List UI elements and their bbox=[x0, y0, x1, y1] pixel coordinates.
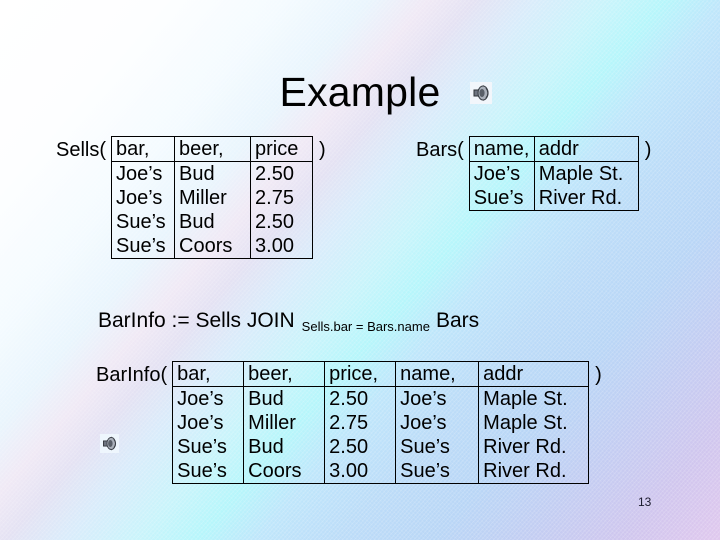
column-header: price, bbox=[325, 362, 396, 387]
relation-barinfo-label: BarInfo( bbox=[96, 361, 172, 390]
column-header: addr bbox=[534, 137, 638, 162]
column-header: addr bbox=[479, 362, 589, 387]
table-row: Joe’s Miller 2.75 bbox=[112, 186, 313, 210]
table-row: Joe’s Bud 2.50 bbox=[112, 162, 313, 187]
table-cell: Joe’s bbox=[396, 411, 479, 435]
table-cell: Sue’s bbox=[112, 234, 175, 259]
column-header: name, bbox=[469, 137, 534, 162]
table-cell: 2.50 bbox=[251, 162, 313, 187]
column-header: beer, bbox=[244, 362, 325, 387]
table-cell: 2.75 bbox=[325, 411, 396, 435]
column-header: beer, bbox=[175, 137, 251, 162]
table-cell: Sue’s bbox=[396, 435, 479, 459]
table-cell: Miller bbox=[175, 186, 251, 210]
table-cell: 3.00 bbox=[325, 459, 396, 484]
page-number: 13 bbox=[638, 495, 651, 509]
table-cell: Maple St. bbox=[534, 162, 638, 187]
table-cell: River Rd. bbox=[479, 459, 589, 484]
table-cell: Sue’s bbox=[173, 459, 244, 484]
table-cell: Joe’s bbox=[396, 387, 479, 412]
table-row: Joe’s Bud 2.50 Joe’s Maple St. bbox=[173, 387, 589, 412]
table-row: Sue’s Coors 3.00 Sue’s River Rd. bbox=[173, 459, 589, 484]
relation-bars: Bars( name, addr Joe’s Maple St. Sue’s R… bbox=[416, 136, 651, 211]
table-cell: Bud bbox=[175, 210, 251, 234]
relation-bars-label: Bars( bbox=[416, 136, 469, 165]
table-cell: Sue’s bbox=[469, 186, 534, 211]
relation-sells-close-paren: ) bbox=[313, 136, 326, 165]
table-header-row: name, addr bbox=[469, 137, 638, 162]
table-cell: Bud bbox=[244, 435, 325, 459]
join-condition-subscript: Sells.bar = Bars.name bbox=[295, 319, 436, 334]
relation-sells-table: bar, beer, price Joe’s Bud 2.50 Joe’s Mi… bbox=[111, 136, 313, 259]
table-cell: Bud bbox=[175, 162, 251, 187]
speaker-icon[interactable] bbox=[100, 434, 119, 453]
table-cell: 2.50 bbox=[325, 387, 396, 412]
table-cell: Maple St. bbox=[479, 411, 589, 435]
speaker-icon[interactable] bbox=[470, 82, 492, 104]
column-header: bar, bbox=[173, 362, 244, 387]
table-cell: Sue’s bbox=[396, 459, 479, 484]
table-cell: River Rd. bbox=[479, 435, 589, 459]
table-cell: Miller bbox=[244, 411, 325, 435]
table-row: Joe’s Maple St. bbox=[469, 162, 638, 187]
table-cell: River Rd. bbox=[534, 186, 638, 211]
page-title: Example bbox=[0, 68, 720, 116]
table-cell: Joe’s bbox=[173, 387, 244, 412]
relation-bars-close-paren: ) bbox=[639, 136, 652, 165]
table-cell: Joe’s bbox=[112, 162, 175, 187]
table-cell: Bud bbox=[244, 387, 325, 412]
table-row: Sue’s River Rd. bbox=[469, 186, 638, 211]
table-cell: 2.75 bbox=[251, 186, 313, 210]
join-expression-left: BarInfo := Sells JOIN bbox=[98, 309, 295, 333]
table-cell: Coors bbox=[244, 459, 325, 484]
table-row: Joe’s Miller 2.75 Joe’s Maple St. bbox=[173, 411, 589, 435]
table-row: Sue’s Coors 3.00 bbox=[112, 234, 313, 259]
table-cell: Coors bbox=[175, 234, 251, 259]
relation-barinfo: BarInfo( bar, beer, price, name, addr Jo… bbox=[96, 361, 602, 484]
relation-sells-label: Sells( bbox=[56, 136, 111, 165]
table-cell: 3.00 bbox=[251, 234, 313, 259]
relation-barinfo-close-paren: ) bbox=[589, 361, 602, 390]
table-row: Sue’s Bud 2.50 bbox=[112, 210, 313, 234]
table-cell: Joe’s bbox=[112, 186, 175, 210]
column-header: bar, bbox=[112, 137, 175, 162]
table-row: Sue’s Bud 2.50 Sue’s River Rd. bbox=[173, 435, 589, 459]
table-cell: 2.50 bbox=[325, 435, 396, 459]
table-cell: 2.50 bbox=[251, 210, 313, 234]
join-expression: BarInfo := Sells JOIN Sells.bar = Bars.n… bbox=[98, 309, 479, 333]
table-cell: Sue’s bbox=[173, 435, 244, 459]
relation-sells: Sells( bar, beer, price Joe’s Bud 2.50 J… bbox=[56, 136, 326, 259]
join-expression-right: Bars bbox=[436, 309, 479, 333]
column-header: name, bbox=[396, 362, 479, 387]
table-cell: Maple St. bbox=[479, 387, 589, 412]
relation-bars-table: name, addr Joe’s Maple St. Sue’s River R… bbox=[469, 136, 639, 211]
column-header: price bbox=[251, 137, 313, 162]
table-cell: Joe’s bbox=[173, 411, 244, 435]
slide-canvas: Example Sells( bar, beer, price bbox=[0, 0, 720, 540]
table-cell: Sue’s bbox=[112, 210, 175, 234]
table-header-row: bar, beer, price bbox=[112, 137, 313, 162]
relation-barinfo-table: bar, beer, price, name, addr Joe’s Bud 2… bbox=[172, 361, 589, 484]
table-header-row: bar, beer, price, name, addr bbox=[173, 362, 589, 387]
table-cell: Joe’s bbox=[469, 162, 534, 187]
